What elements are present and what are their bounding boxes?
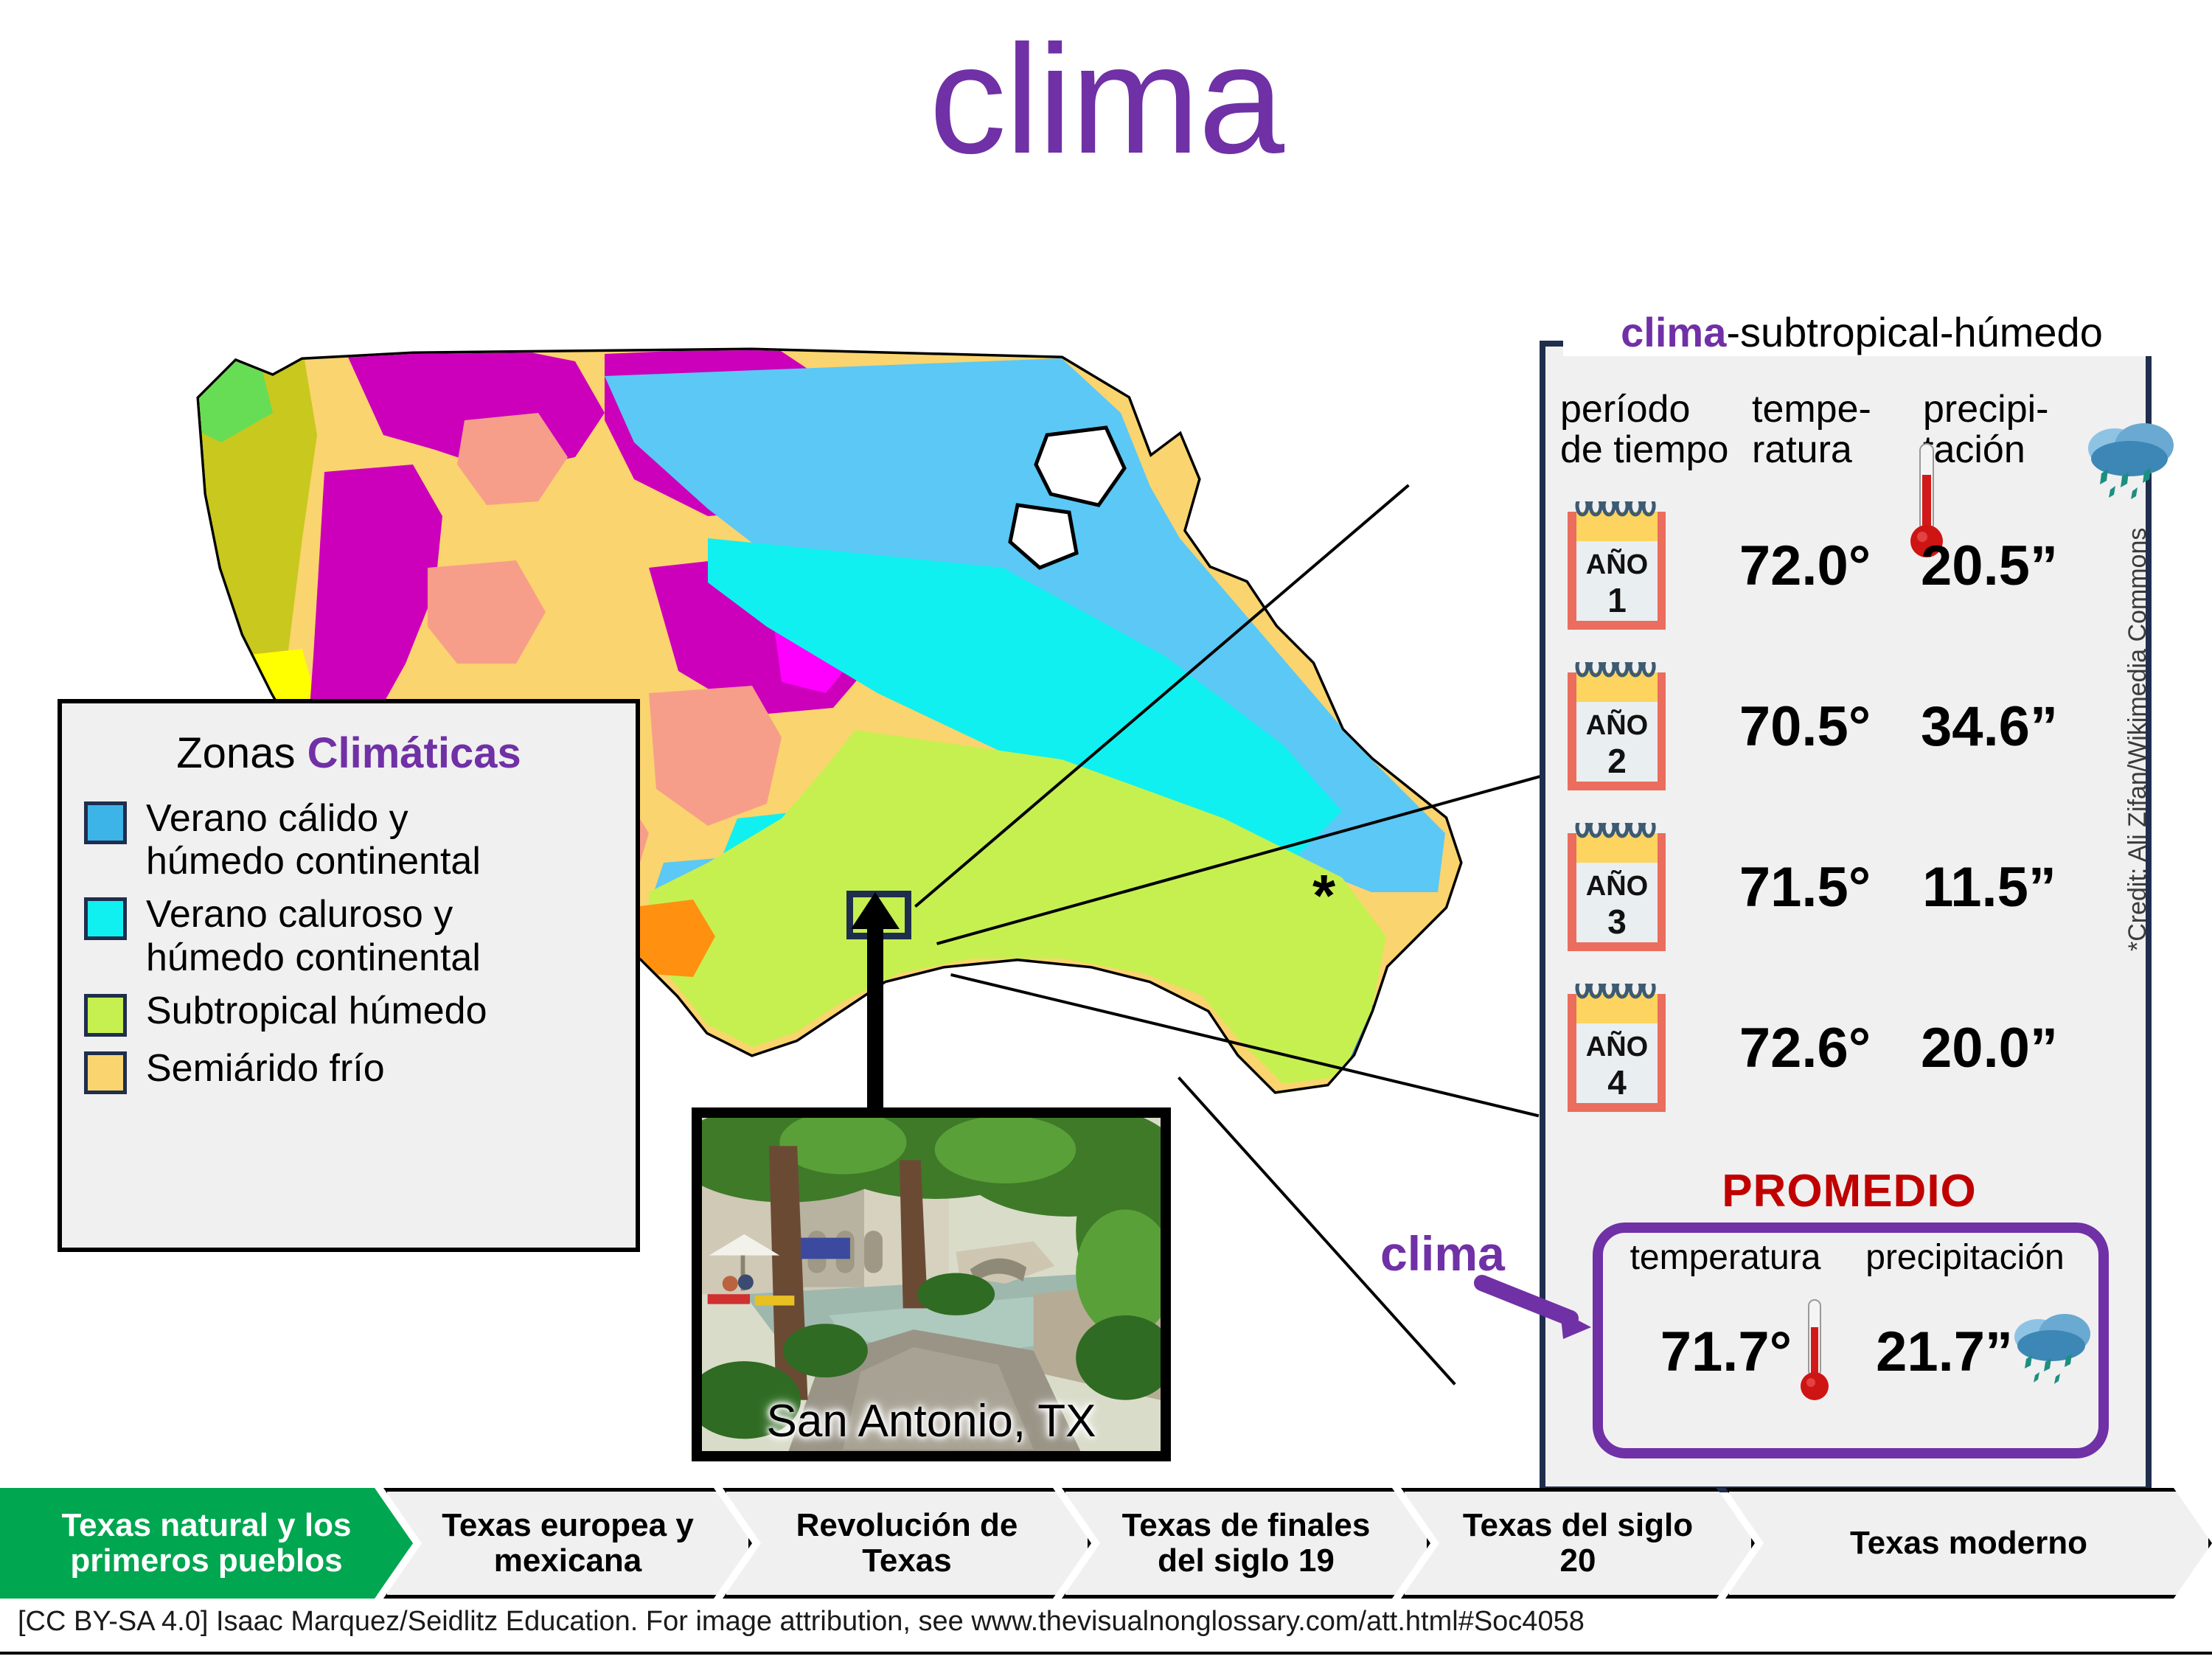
table-row: AÑO 4 72.6° 20.0” [1554, 978, 2144, 1138]
timeline-item-2[interactable]: Revolución de Texas [723, 1488, 1091, 1599]
panel-title-accent: clima [1621, 309, 1726, 355]
cell-precipitation-1: 34.6” [1901, 695, 2078, 759]
photo-caption: San Antonio, TX [692, 1395, 1171, 1447]
timeline-item-5[interactable]: Texas moderno [1725, 1488, 2212, 1599]
legend-title-accent: Climáticas [307, 729, 521, 777]
legend-label-0: Verano cálido y húmedo continental [146, 797, 481, 883]
legend-title: Zonas Climáticas [84, 728, 613, 778]
attribution-text: [CC BY-SA 4.0] Isaac Marquez/Seidlitz Ed… [18, 1606, 1585, 1638]
calendar-icon: AÑO 1 [1563, 501, 1670, 634]
rain-cloud-icon [2007, 1309, 2103, 1390]
legend-label-1: Verano caluroso y húmedo continental [146, 893, 481, 978]
calendar-icon: AÑO 3 [1563, 823, 1670, 956]
timeline-item-3[interactable]: Texas de finales del siglo 19 [1062, 1488, 1430, 1599]
calendar-word-1: AÑO [1586, 709, 1648, 741]
timeline-item-1[interactable]: Texas europea y mexicana [383, 1488, 752, 1599]
calendar-num-3: 4 [1607, 1063, 1627, 1102]
legend-swatch-icon-3 [84, 1051, 127, 1094]
promedio-heading: PROMEDIO [1554, 1165, 2144, 1217]
timeline: Texas natural y los primeros pueblos Tex… [0, 1488, 2212, 1599]
thermometer-icon [1799, 1298, 1830, 1408]
legend-label-2: Subtropical húmedo [146, 990, 487, 1032]
cell-temperature-1: 70.5° [1724, 695, 1886, 759]
bottom-divider [0, 1652, 2212, 1655]
panel-title-rest: -subtropical-húmedo [1726, 309, 2102, 355]
table-row: AÑO 3 71.5° 11.5” [1554, 817, 2144, 978]
legend-swatch-icon-1 [84, 897, 127, 940]
cell-precipitation-0: 20.5” [1901, 534, 2078, 598]
map-legend: Zonas Climáticas Verano cálido y húmedo … [58, 699, 640, 1252]
table-row: AÑO 2 70.5° 34.6” [1554, 656, 2144, 817]
calendar-num-1: 2 [1607, 742, 1627, 780]
cell-temperature-2: 71.5° [1724, 855, 1886, 919]
calendar-icon: AÑO 4 [1563, 984, 1670, 1116]
column-header-temperature: tempe- ratura [1752, 389, 1871, 470]
image-credit: *Credit: Ali Zifan/Wikimedia Commons [2124, 435, 2152, 951]
table-row: AÑO 1 72.0° 20.5” [1554, 495, 2144, 656]
average-temperature-label: temperatura [1611, 1237, 1840, 1278]
calendar-word-3: AÑO [1586, 1030, 1648, 1062]
legend-item-cold-semiarid: Semiárido frío [84, 1047, 613, 1094]
legend-swatch-icon-2 [84, 994, 127, 1037]
legend-title-plain: Zonas [176, 729, 307, 777]
cell-temperature-0: 72.0° [1724, 534, 1886, 598]
legend-item-hot-summer: Verano caluroso y húmedo continental [84, 893, 613, 978]
timeline-item-4[interactable]: Texas del siglo 20 [1401, 1488, 1755, 1599]
column-header-period: período de tiempo [1560, 389, 1728, 470]
legend-label-3: Semiárido frío [146, 1047, 385, 1090]
legend-item-warm-summer: Verano cálido y húmedo continental [84, 797, 613, 883]
calendar-num-2: 3 [1607, 902, 1627, 941]
panel-title: clima-subtropical-húmedo [1563, 308, 2160, 356]
clima-pointer-arrow [1370, 1224, 1621, 1430]
legend-swatch-icon-0 [84, 801, 127, 844]
cell-precipitation-2: 11.5” [1901, 855, 2078, 919]
table-column-headers: período de tiempo tempe- ratura precipi-… [1554, 383, 2144, 494]
average-temperature-value: 71.7° [1607, 1320, 1792, 1384]
calendar-word-0: AÑO [1586, 548, 1648, 580]
page-title: clima [0, 22, 2212, 177]
cell-temperature-3: 72.6° [1724, 1016, 1886, 1080]
calendar-icon: AÑO 2 [1563, 662, 1670, 795]
average-precipitation-label: precipitación [1843, 1237, 2087, 1278]
legend-item-humid-subtropical: Subtropical húmedo [84, 990, 613, 1037]
map-asterisk-marker: * [1312, 866, 1335, 925]
calendar-word-2: AÑO [1586, 869, 1648, 902]
cell-precipitation-3: 20.0” [1901, 1016, 2078, 1080]
timeline-item-active[interactable]: Texas natural y los primeros pueblos [0, 1488, 413, 1599]
average-precipitation-value: 21.7” [1829, 1320, 2013, 1384]
calendar-num-0: 1 [1607, 581, 1627, 619]
